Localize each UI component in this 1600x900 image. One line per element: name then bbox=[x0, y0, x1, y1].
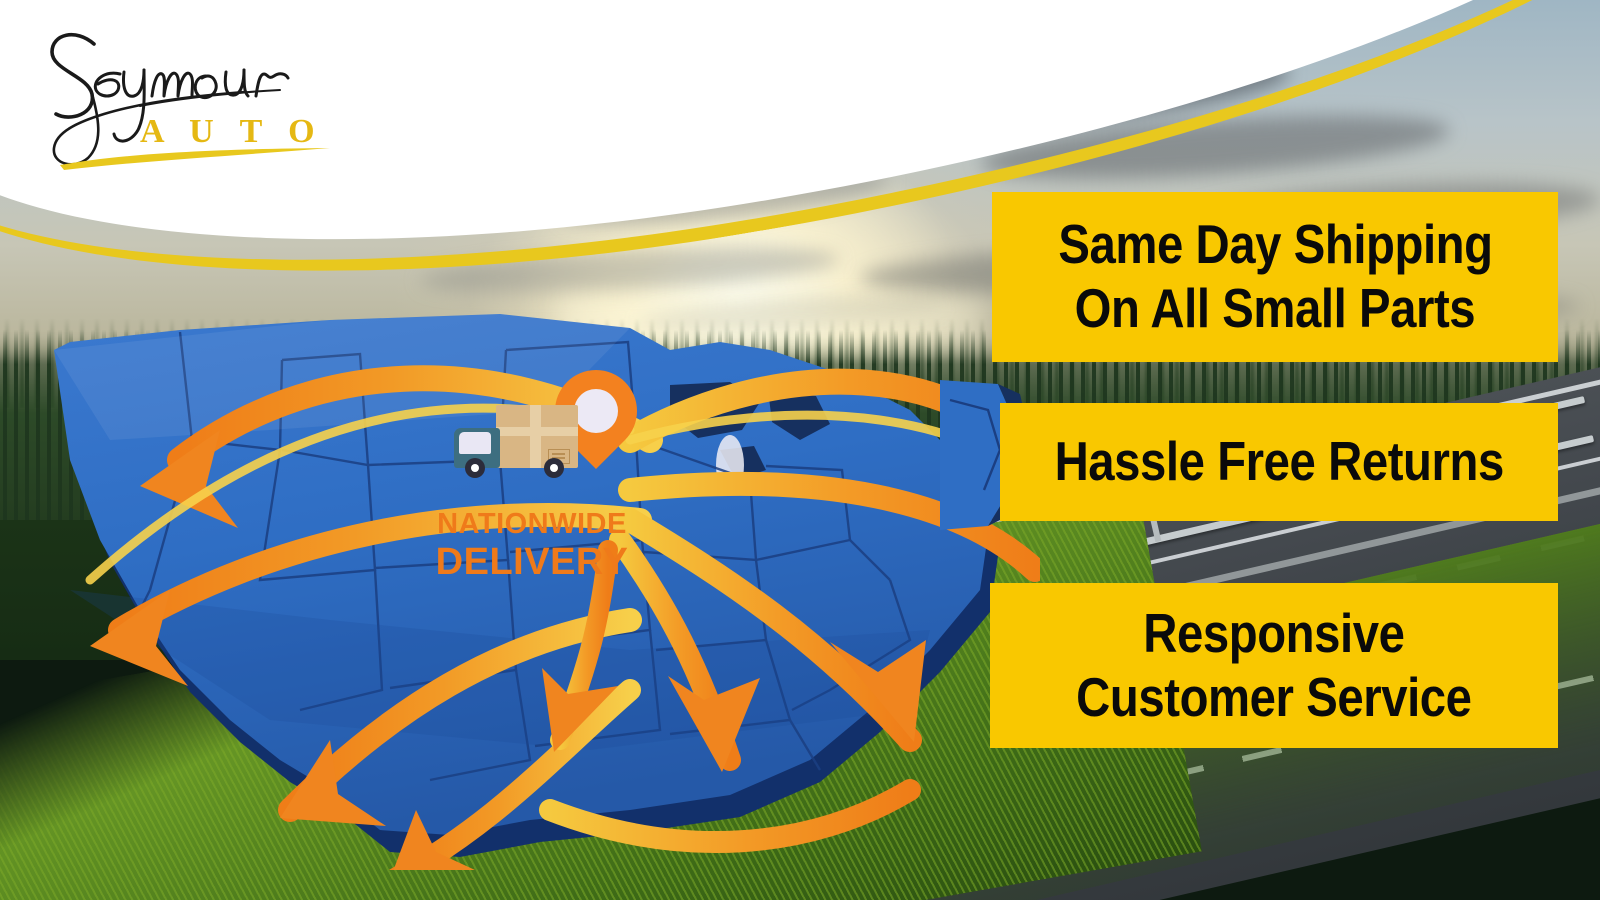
delivery-truck-icon bbox=[454, 400, 584, 478]
panel-1-line-2: On All Small Parts bbox=[1075, 277, 1476, 341]
panel-3-line-1: Responsive bbox=[1143, 602, 1404, 666]
panel-responsive-customer-service[interactable]: Responsive Customer Service bbox=[990, 583, 1558, 748]
panel-same-day-shipping[interactable]: Same Day Shipping On All Small Parts bbox=[992, 192, 1558, 362]
panel-3-line-2: Customer Service bbox=[1076, 666, 1471, 730]
nationwide-line-2: DELIVERY bbox=[432, 543, 632, 581]
panel-1-line-1: Same Day Shipping bbox=[1058, 213, 1492, 277]
svg-text:A U T O: A U T O bbox=[140, 113, 324, 150]
nationwide-delivery-text: NATIONWIDE DELIVERY bbox=[432, 510, 632, 581]
seymour-auto-logo[interactable]: A U T O bbox=[30, 18, 340, 173]
nationwide-delivery-badge: NATIONWIDE DELIVERY bbox=[440, 368, 660, 583]
panel-2-line-1: Hassle Free Returns bbox=[1054, 430, 1503, 494]
panel-hassle-free-returns[interactable]: Hassle Free Returns bbox=[1000, 403, 1558, 521]
marketing-banner: NATIONWIDE DELIVERY bbox=[0, 0, 1600, 900]
nationwide-line-1: NATIONWIDE bbox=[432, 510, 632, 539]
